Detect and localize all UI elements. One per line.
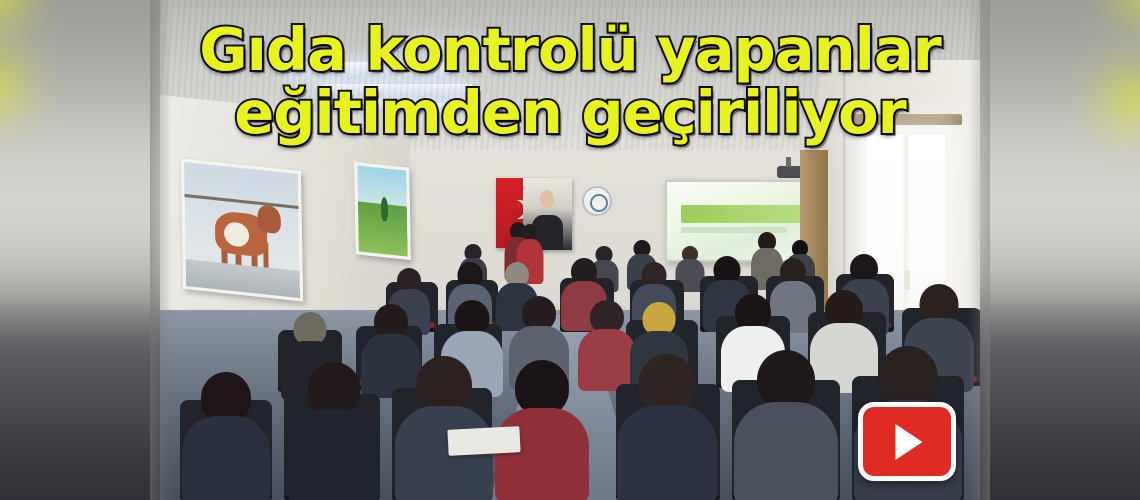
attendee (292, 362, 376, 500)
attendee-body (495, 408, 589, 500)
blurred-headline-fragment-right-1 (1123, 0, 1140, 10)
photo-right-edge-fade (968, 0, 990, 500)
blurred-headline-fragment-right-2 (1108, 78, 1140, 121)
ceiling-light-2 (317, 84, 472, 97)
portrait-head (540, 190, 555, 209)
attendee (186, 372, 266, 500)
blurred-headline-fragment-left-1 (0, 0, 23, 15)
ceiling-light-3 (348, 103, 471, 113)
attendee-body (288, 409, 380, 500)
attendee-head (757, 350, 815, 410)
photo-left-edge-fade (150, 0, 172, 500)
news-hero-image: Gıda kontrolü yapanlar eğitimden geçiril… (0, 0, 1140, 500)
document-on-desk (447, 426, 520, 456)
video-play-button[interactable] (858, 402, 956, 481)
curtain-rod (844, 114, 962, 125)
poster-cow (181, 159, 303, 302)
blurred-headline-fragment-left-2 (0, 63, 20, 108)
attendee-head (878, 346, 938, 408)
institution-logo-icon (582, 186, 612, 216)
attendee-body (734, 402, 838, 500)
play-triangle-icon (895, 424, 922, 460)
poster-landscape (354, 162, 411, 260)
attendee-body (182, 416, 270, 500)
ceiling-light-4 (407, 40, 502, 49)
attendee-body (617, 405, 717, 500)
seminar-photo (160, 0, 980, 500)
flag-crescent-icon (505, 200, 524, 219)
ceiling-light-1 (286, 62, 454, 78)
attendee (622, 354, 712, 500)
attendee (740, 350, 832, 500)
